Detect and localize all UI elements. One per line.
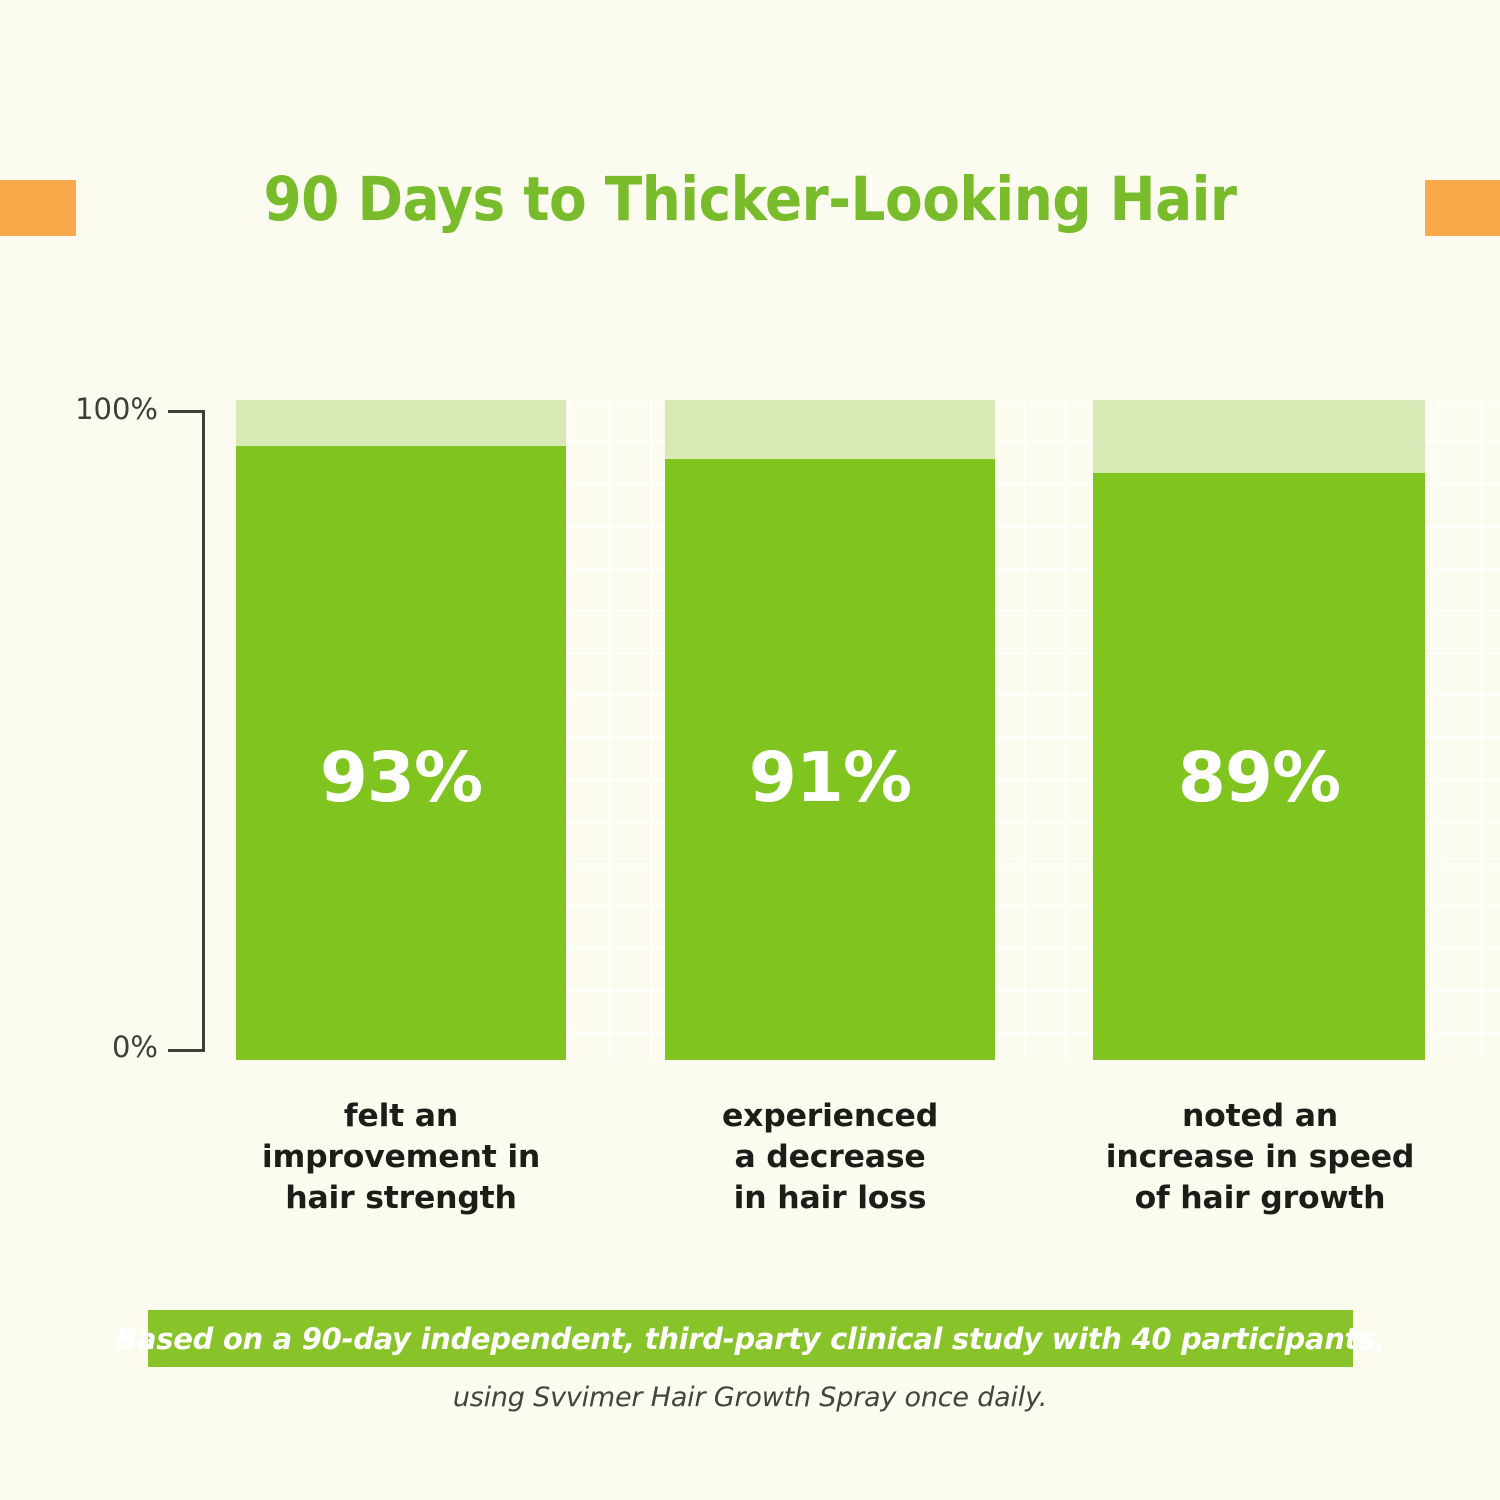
bar-track-3: 89% xyxy=(1093,400,1425,1060)
bar-caption-1: felt an improvement in hair strength xyxy=(216,1096,586,1219)
bar-caption-3: noted an increase in speed of hair growt… xyxy=(1060,1096,1460,1219)
bar-value-1: 93% xyxy=(236,738,566,818)
bar-value-2: 91% xyxy=(665,738,995,818)
footnote-banner-text: Based on a 90-day independent, third-par… xyxy=(115,1322,1386,1356)
accent-block-right xyxy=(1425,180,1500,236)
y-axis-label-min: 0% xyxy=(20,1030,158,1064)
y-axis-bracket xyxy=(168,410,210,1052)
accent-block-left xyxy=(0,180,76,236)
bar-value-3: 89% xyxy=(1093,738,1425,818)
y-axis-label-max: 100% xyxy=(20,392,158,426)
bar-track-2: 91% xyxy=(665,400,995,1060)
bar-track-1: 93% xyxy=(236,400,566,1060)
footnote-subtext: using Svvimer Hair Growth Spray once dai… xyxy=(150,1382,1350,1413)
infographic-canvas: 90 Days to Thicker-Looking Hair 100% 0% … xyxy=(0,0,1500,1500)
bar-caption-2: experienced a decrease in hair loss xyxy=(645,1096,1015,1219)
page-title: 90 Days to Thicker-Looking Hair xyxy=(150,164,1350,235)
footnote-banner: Based on a 90-day independent, third-par… xyxy=(148,1310,1353,1367)
